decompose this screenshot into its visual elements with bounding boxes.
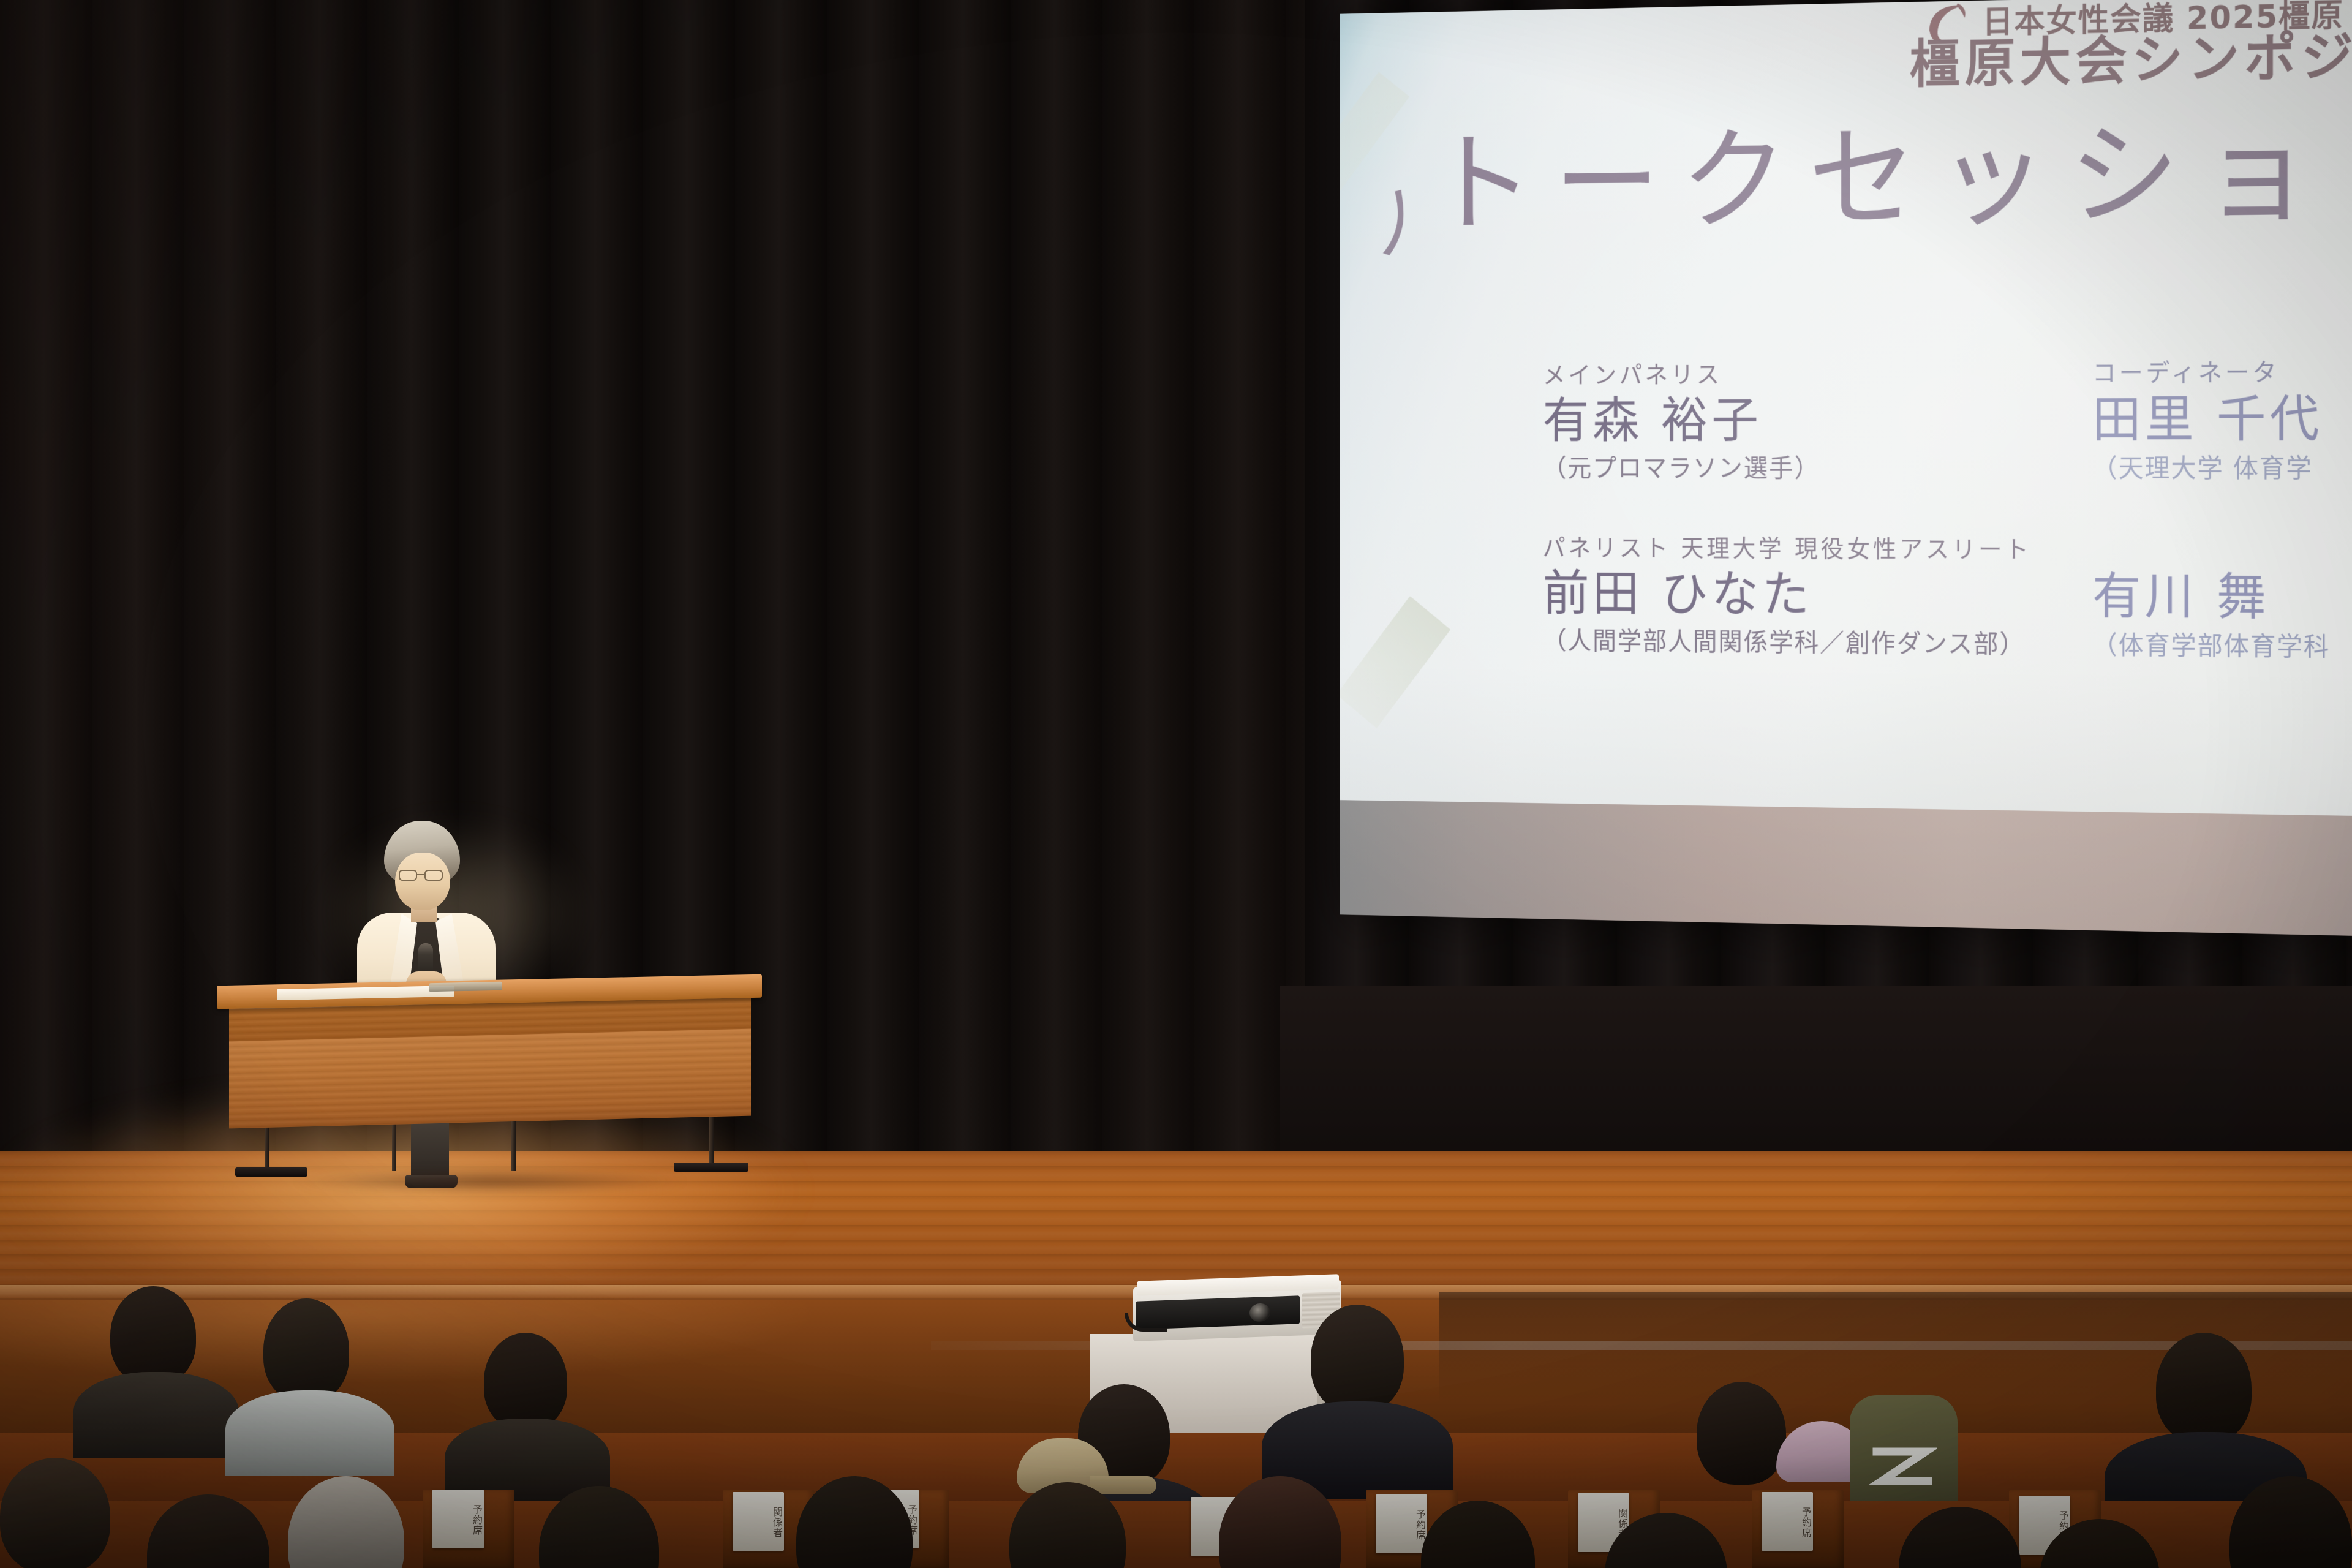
audience-head <box>0 1458 110 1568</box>
audience-area: 予約席 関係者 予約席 関係者 予約席 関係者 予約席 予約席 <box>0 1274 2352 1568</box>
seat-card-text: 予約席 <box>1376 1503 1427 1546</box>
table-leg <box>392 1121 396 1171</box>
eyeglasses-icon <box>399 870 448 881</box>
table-foot-caster <box>235 1167 307 1177</box>
cap-brim <box>1090 1476 1156 1494</box>
audience-shoulders <box>73 1372 239 1458</box>
audience-head <box>484 1333 567 1430</box>
seat-reservation-card: 予約席 <box>1762 1492 1813 1551</box>
auditorium-photo: 日本女性会議 2025橿原 橿原大会シンポジウム ノ トークセッショ メインパネ… <box>0 0 2352 1568</box>
speaker-face <box>395 853 450 910</box>
seat-card-text: 予約席 <box>432 1498 484 1541</box>
audience-head <box>263 1298 349 1401</box>
audience-head <box>1311 1305 1404 1412</box>
audience-head <box>1697 1382 1786 1485</box>
audience-head <box>110 1286 196 1384</box>
table-wood-grain <box>229 993 751 1129</box>
seat-reservation-card: 予約席 <box>1376 1494 1427 1553</box>
seat-reservation-card: 関係者 <box>733 1492 784 1551</box>
backpack-zigzag-logo-icon <box>1869 1443 1937 1492</box>
seat-reservation-card: 予約席 <box>432 1490 484 1548</box>
table-foot-caster <box>674 1163 748 1172</box>
screen-vignette <box>1340 0 2352 936</box>
stage-table <box>208 968 778 1237</box>
seat-card-text: 予約席 <box>1762 1501 1813 1543</box>
projection-screen: 日本女性会議 2025橿原 橿原大会シンポジウム ノ トークセッショ メインパネ… <box>1340 0 2352 936</box>
table-leg <box>511 1120 516 1171</box>
microphone-stand-on-table <box>429 982 502 992</box>
audience-head <box>2156 1333 2252 1443</box>
seat-card-text: 関係者 <box>733 1501 784 1543</box>
audience-shoulders <box>225 1390 394 1476</box>
